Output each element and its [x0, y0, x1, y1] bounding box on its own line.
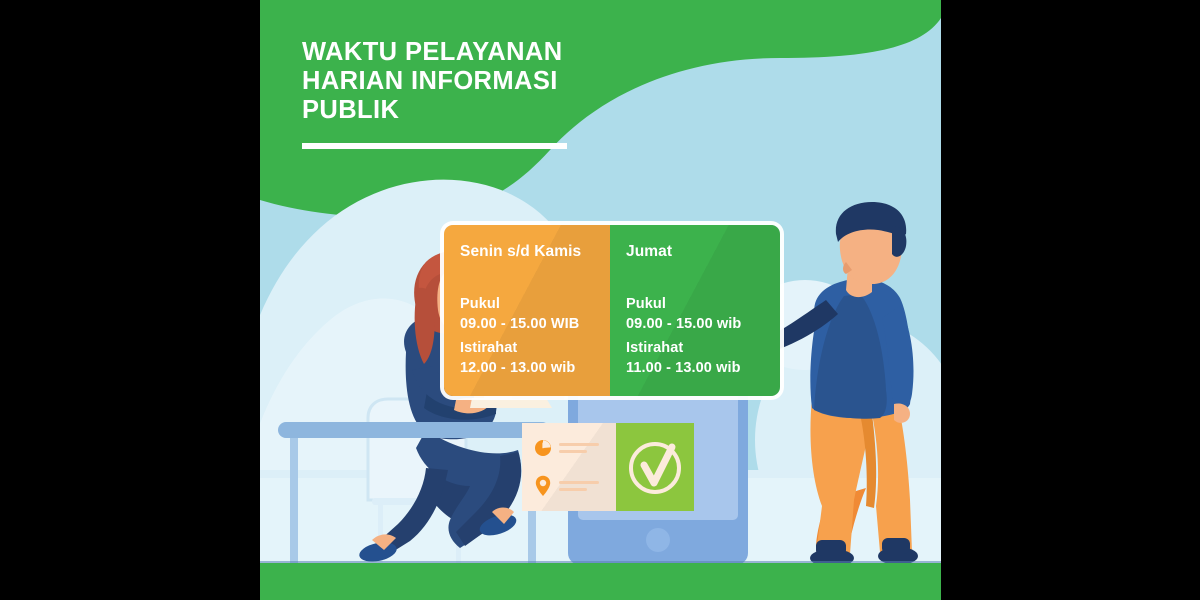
schedule-card: Senin s/d Kamis Pukul 09.00 - 15.00 WIB … — [444, 225, 780, 396]
schedule-column-friday: Jumat Pukul 09.00 - 15.00 wib Istirahat … — [610, 225, 780, 396]
weekday-break-value: 12.00 - 13.00 wib — [460, 359, 610, 379]
weekday-details: Pukul 09.00 - 15.00 WIB Istirahat 12.00 … — [460, 295, 610, 378]
page-title: WAKTU PELAYANAN HARIAN INFORMASI PUBLIK — [302, 38, 602, 125]
footer-bar — [260, 563, 941, 600]
certificate-location-lines — [559, 481, 599, 491]
certificate-card — [522, 423, 694, 511]
screenshot-canvas: WAKTU PELAYANAN HARIAN INFORMASI PUBLIK … — [0, 0, 1200, 600]
weekday-hours-value: 09.00 - 15.00 WIB — [460, 315, 610, 335]
clock-icon — [534, 439, 552, 457]
man-ankle-right — [882, 538, 910, 554]
title-underline — [302, 143, 567, 149]
header-block: WAKTU PELAYANAN HARIAN INFORMASI PUBLIK — [302, 38, 602, 149]
certificate-row-location — [534, 475, 599, 497]
schedule-column-weekday: Senin s/d Kamis Pukul 09.00 - 15.00 WIB … — [444, 225, 610, 396]
weekday-hours-label: Pukul — [460, 295, 610, 315]
certificate-check-panel — [616, 423, 694, 511]
weekday-break-label: Istirahat — [460, 339, 610, 359]
friday-details: Pukul 09.00 - 15.00 wib Istirahat 11.00 … — [626, 295, 780, 378]
certificate-info-panel — [522, 423, 616, 511]
friday-hours-value: 09.00 - 15.00 wib — [626, 315, 780, 335]
man-trousers-right — [872, 404, 912, 552]
friday-break-value: 11.00 - 13.00 wib — [626, 359, 780, 379]
location-pin-icon — [534, 475, 552, 497]
friday-day-label: Jumat — [626, 243, 780, 261]
weekday-day-label: Senin s/d Kamis — [460, 243, 610, 261]
check-circle-icon — [616, 423, 694, 511]
man-ankle-left — [816, 540, 846, 556]
poster-illustration: WAKTU PELAYANAN HARIAN INFORMASI PUBLIK … — [260, 0, 941, 600]
footer-divider — [260, 561, 941, 563]
friday-break-label: Istirahat — [626, 339, 780, 359]
friday-hours-label: Pukul — [626, 295, 780, 315]
certificate-time-lines — [559, 443, 599, 453]
certificate-panel-shade — [522, 423, 616, 511]
certificate-row-time — [534, 439, 599, 457]
